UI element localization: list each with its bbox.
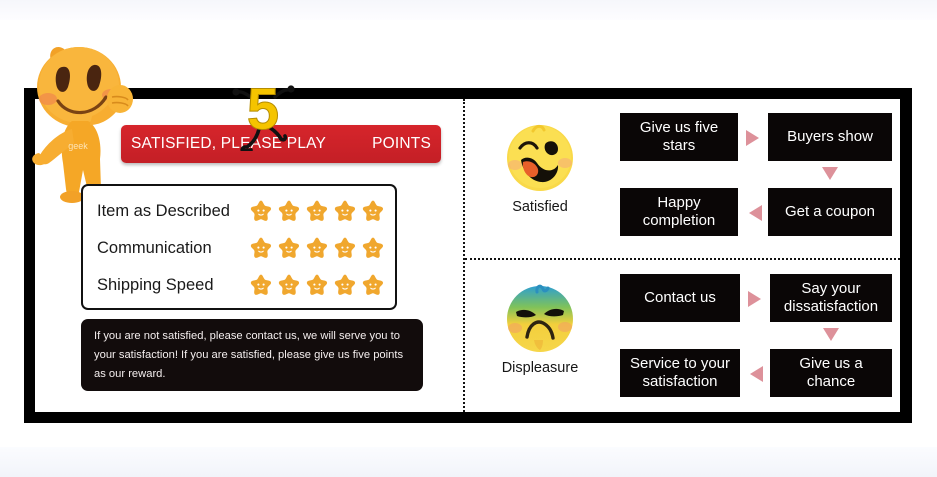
rating-row: Shipping Speed	[97, 267, 385, 303]
node-get-a-coupon[interactable]: Get a coupon	[768, 188, 892, 236]
star-icon	[305, 273, 329, 297]
star-icon	[361, 273, 385, 297]
arrow-right-icon	[748, 291, 761, 307]
rating-row: Communication	[97, 230, 385, 266]
page-bottom-band	[0, 447, 937, 477]
node-say-your-dissatisfaction[interactable]: Say your dissatisfaction	[770, 274, 892, 322]
rating-stars-communication	[249, 236, 385, 260]
star-icon	[249, 199, 273, 223]
rating-label-communication: Communication	[97, 239, 249, 258]
rating-card: Item as Described Communication	[81, 184, 397, 310]
star-icon	[249, 236, 273, 260]
page-top-band	[0, 0, 937, 20]
service-note-text: If you are not satisfied, please contact…	[94, 327, 411, 384]
star-icon	[361, 236, 385, 260]
main-black-frame: geek SATISFIED, PLEASE PLAY POINTS	[24, 88, 912, 423]
arrow-right-icon	[746, 130, 759, 146]
star-icon	[305, 199, 329, 223]
displeasure-face-label: Displeasure	[487, 360, 593, 376]
displeasure-face-wrap: Displeasure	[487, 282, 593, 376]
star-icon	[361, 199, 385, 223]
star-icon	[277, 236, 301, 260]
arrow-down-icon	[822, 167, 838, 180]
rating-stars-item-as-described	[249, 199, 385, 223]
star-icon	[305, 236, 329, 260]
dancing-five-figure-icon: 5	[231, 75, 295, 151]
star-icon	[333, 236, 357, 260]
satisfied-flow-panel: Satisfied Give us five stars Buyers show…	[465, 99, 900, 255]
winking-smiley-face-icon	[503, 121, 577, 195]
star-icon	[249, 273, 273, 297]
angry-sad-face-icon	[503, 282, 577, 356]
rating-label-item-as-described: Item as Described	[97, 202, 249, 221]
satisfied-face-label: Satisfied	[487, 199, 593, 215]
star-icon	[277, 199, 301, 223]
svg-text:geek: geek	[68, 141, 88, 151]
arrow-down-icon	[823, 328, 839, 341]
node-buyers-show[interactable]: Buyers show	[768, 113, 892, 161]
rating-stars-shipping-speed	[249, 273, 385, 297]
service-note-box: If you are not satisfied, please contact…	[81, 319, 423, 391]
node-contact-us[interactable]: Contact us	[620, 274, 740, 322]
satisfied-face-wrap: Satisfied	[487, 121, 593, 215]
banner-text-before: SATISFIED, PLEASE PLAY	[131, 135, 326, 153]
node-give-us-a-chance[interactable]: Give us a chance	[770, 349, 892, 397]
arrow-left-icon	[750, 366, 763, 382]
node-happy-completion[interactable]: Happy completion	[620, 188, 738, 236]
arrow-left-icon	[749, 205, 762, 221]
banner-text-after: POINTS	[372, 135, 431, 153]
node-give-us-five-stars[interactable]: Give us five stars	[620, 113, 738, 161]
star-icon	[277, 273, 301, 297]
star-icon	[333, 273, 357, 297]
frame-inner-canvas: geek SATISFIED, PLEASE PLAY POINTS	[35, 99, 900, 412]
star-icon	[333, 199, 357, 223]
promo-banner-image: geek SATISFIED, PLEASE PLAY POINTS	[0, 0, 937, 477]
rating-row: Item as Described	[97, 193, 385, 229]
left-rating-panel: geek SATISFIED, PLEASE PLAY POINTS	[35, 99, 463, 412]
node-service-to-your-satisfaction[interactable]: Service to your satisfaction	[620, 349, 740, 397]
banner-number-glyph: 5	[247, 77, 279, 142]
displeasure-flow-panel: Displeasure Contact us Say your dissatis…	[465, 260, 900, 416]
rating-label-shipping-speed: Shipping Speed	[97, 276, 249, 295]
